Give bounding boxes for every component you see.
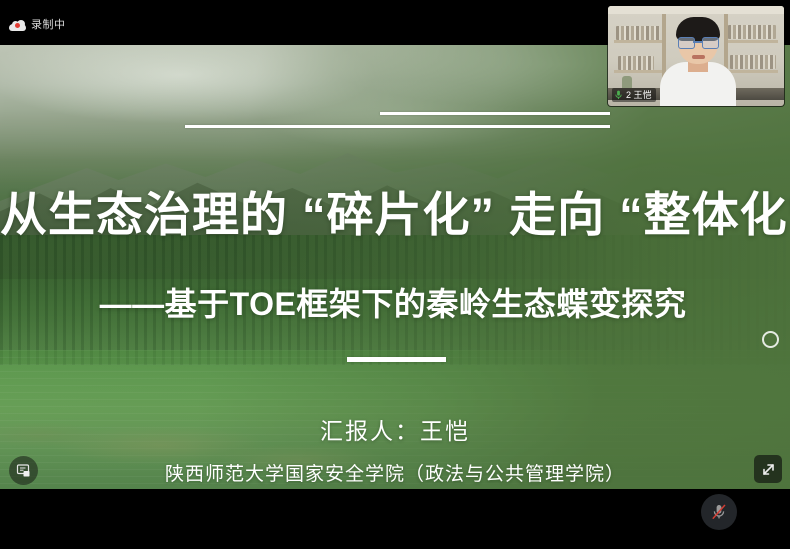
annotate-screen-icon — [16, 463, 31, 478]
person-glasses — [678, 37, 718, 47]
mute-microphone-button[interactable] — [701, 494, 737, 530]
slide-title: 从生态治理的 “碎片化” 走向 “整体化” — [0, 187, 790, 243]
participant-label-text: 2 王恺 — [626, 90, 652, 100]
cloud-record-icon — [9, 20, 26, 31]
slide-organization: 陕西师范大学国家安全学院（政法与公共管理学院） — [0, 462, 790, 488]
books-row — [618, 56, 654, 70]
shelf-plank — [726, 40, 778, 43]
shelf-plank — [614, 70, 662, 73]
annotate-button[interactable] — [9, 456, 38, 485]
decorative-line-top-right — [380, 112, 610, 115]
decorative-line-top-left — [185, 125, 610, 128]
shelf-plank — [726, 70, 778, 73]
microphone-muted-icon — [709, 502, 729, 522]
shared-screen-slide[interactable]: 从生态治理的 “碎片化” 走向 “整体化” ——基于TOE框架下的秦岭生态蝶变探… — [0, 45, 790, 489]
slide-subtitle: ——基于TOE框架下的秦岭生态蝶变探究 — [0, 283, 790, 325]
slide-presenter: 汇报人：王恺 — [0, 417, 790, 447]
books-row — [616, 26, 660, 40]
books-row — [728, 25, 776, 39]
recording-indicator: 录制中 — [9, 19, 66, 31]
expand-arrow-icon — [761, 462, 776, 477]
shelf-plank — [614, 40, 662, 43]
microphone-icon — [614, 90, 623, 101]
expand-button[interactable] — [754, 455, 782, 483]
person-mouth — [692, 55, 705, 59]
participant-name-badge: 2 王恺 — [612, 88, 656, 102]
meeting-screen-share-window: 从生态治理的 “碎片化” 走向 “整体化” ——基于TOE框架下的秦岭生态蝶变探… — [0, 0, 790, 549]
decorative-line-middle — [347, 357, 446, 362]
recording-label: 录制中 — [31, 19, 66, 31]
books-row — [730, 55, 776, 69]
participant-video-tile[interactable]: 2 王恺 — [608, 6, 784, 106]
bottom-bar — [0, 489, 790, 549]
decorative-circle — [762, 331, 779, 348]
room-ceiling — [608, 6, 784, 14]
